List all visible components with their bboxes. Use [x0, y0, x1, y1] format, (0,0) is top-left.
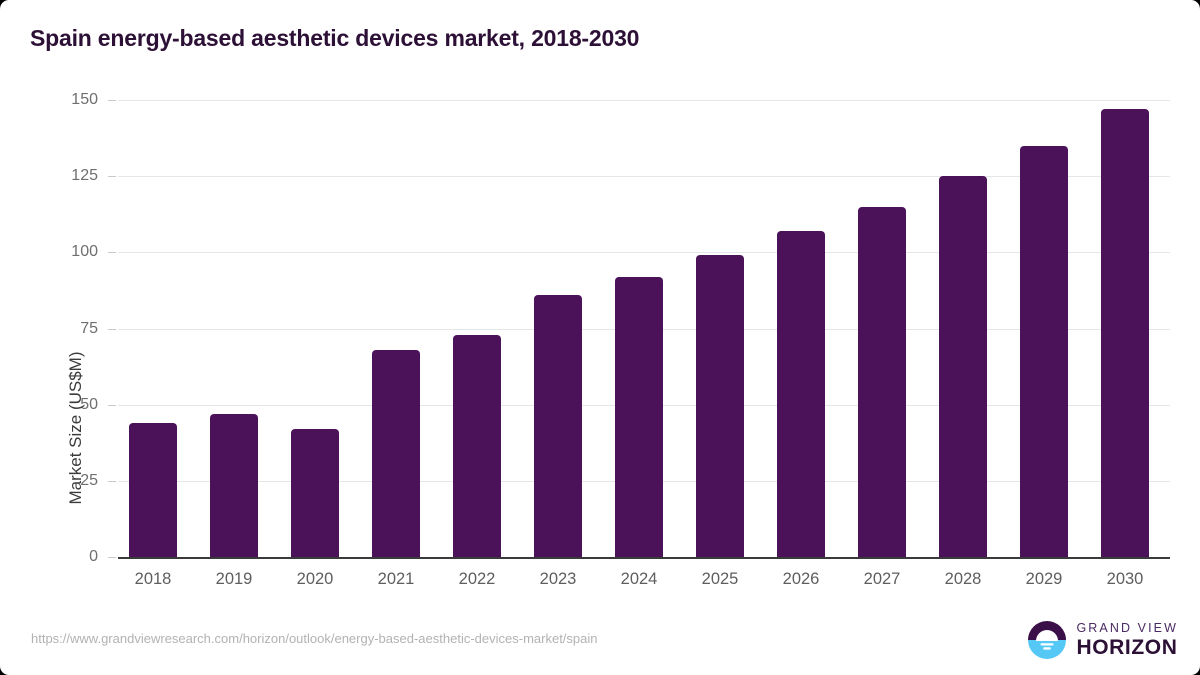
brand-logo-line2: HORIZON	[1076, 637, 1178, 658]
horizon-circle-icon	[1027, 620, 1067, 660]
bar[interactable]	[291, 429, 339, 557]
plot-area: 0255075100125150 Market Size (US$M) 2018…	[118, 100, 1170, 557]
y-tick-mark	[108, 252, 116, 253]
bar[interactable]	[129, 423, 177, 557]
x-tick-label: 2018	[113, 570, 193, 589]
x-tick-label: 2029	[1004, 570, 1084, 589]
y-tick-mark	[108, 481, 116, 482]
x-tick-label: 2028	[923, 570, 1003, 589]
bar[interactable]	[534, 295, 582, 557]
x-axis-line	[118, 557, 1170, 559]
y-tick-mark	[108, 176, 116, 177]
brand-logo-text: GRAND VIEW HORIZON	[1076, 622, 1178, 659]
chart-card: Spain energy-based aesthetic devices mar…	[0, 0, 1200, 675]
y-tick-mark	[108, 557, 116, 558]
bar[interactable]	[858, 207, 906, 557]
brand-logo[interactable]: GRAND VIEW HORIZON	[1027, 620, 1178, 660]
y-tick-label: 150	[38, 91, 98, 109]
x-tick-label: 2022	[437, 570, 517, 589]
gridline	[118, 252, 1170, 253]
brand-logo-line1: GRAND VIEW	[1076, 622, 1178, 635]
bar[interactable]	[696, 255, 744, 557]
bar[interactable]	[615, 277, 663, 557]
bar[interactable]	[777, 231, 825, 557]
x-tick-label: 2027	[842, 570, 922, 589]
bar[interactable]	[1101, 109, 1149, 557]
x-tick-label: 2026	[761, 570, 841, 589]
y-tick-label: 75	[38, 320, 98, 338]
bar[interactable]	[939, 176, 987, 557]
source-url[interactable]: https://www.grandviewresearch.com/horizo…	[31, 631, 598, 646]
x-tick-label: 2024	[599, 570, 679, 589]
bar[interactable]	[1020, 146, 1068, 557]
y-tick-label: 0	[38, 548, 98, 566]
bar[interactable]	[372, 350, 420, 557]
y-tick-mark	[108, 100, 116, 101]
gridline	[118, 100, 1170, 101]
gridline	[118, 176, 1170, 177]
x-tick-label: 2019	[194, 570, 274, 589]
x-tick-label: 2021	[356, 570, 436, 589]
y-axis-title: Market Size (US$M)	[66, 351, 86, 504]
bar[interactable]	[210, 414, 258, 557]
y-tick-label: 125	[38, 167, 98, 185]
bar[interactable]	[453, 335, 501, 557]
y-tick-label: 100	[38, 243, 98, 261]
x-tick-label: 2020	[275, 570, 355, 589]
page-title: Spain energy-based aesthetic devices mar…	[30, 25, 639, 52]
y-tick-mark	[108, 329, 116, 330]
x-tick-label: 2023	[518, 570, 598, 589]
x-tick-label: 2025	[680, 570, 760, 589]
y-tick-mark	[108, 405, 116, 406]
x-tick-label: 2030	[1085, 570, 1165, 589]
